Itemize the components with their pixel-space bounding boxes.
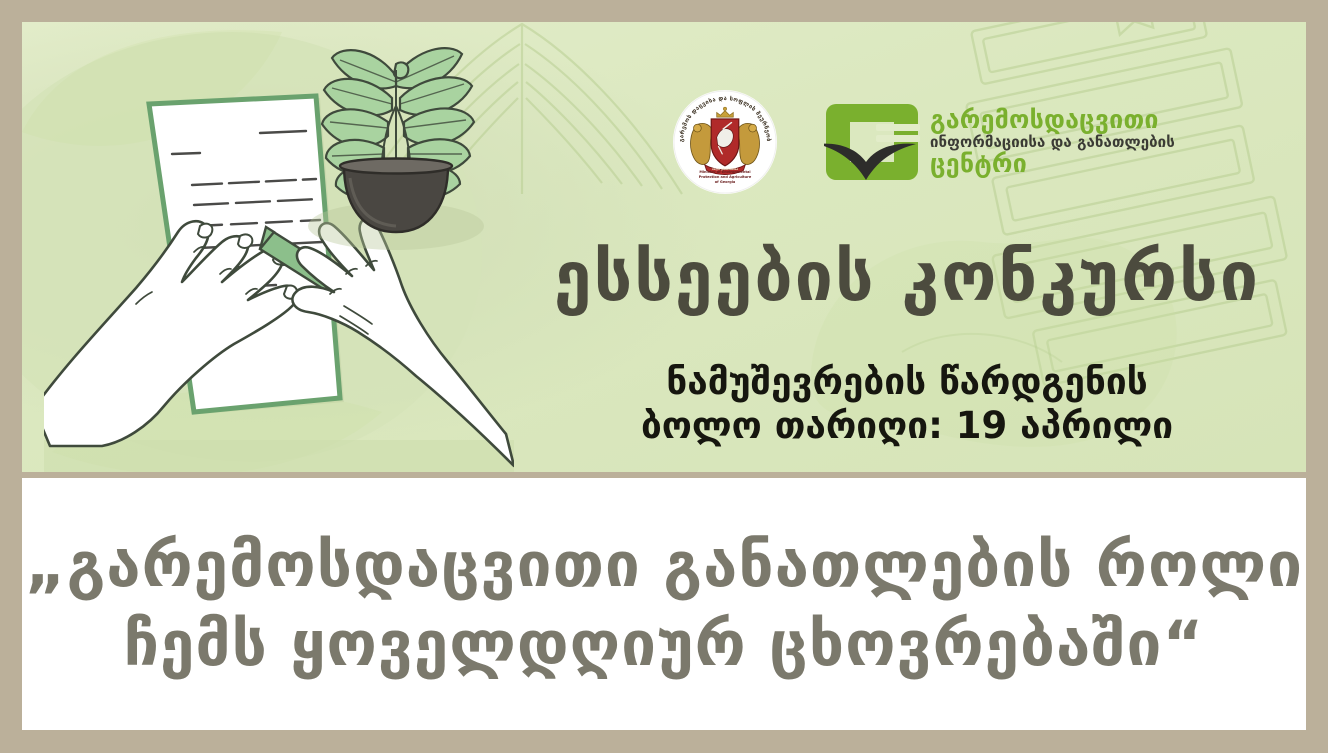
essay-topic-band: „გარემოსდაცვითი განათლების როლი ჩემს ყოვ…	[22, 478, 1306, 730]
center-logo: გარემოსდაცვითი ინფორმაციისა და განათლები…	[824, 96, 1175, 188]
svg-text:Protection and Agriculture: Protection and Agriculture	[699, 175, 752, 179]
potted-plant	[308, 48, 484, 250]
center-logo-line3: ცენტრი	[930, 151, 1175, 177]
hero-panel: საქართველოს გარემოს დაცვისა და სოფლის მე…	[22, 22, 1306, 472]
poster-root: საქართველოს გარემოს დაცვისა და სოფლის მე…	[0, 0, 1328, 753]
essay-topic-line1: „გარემოსდაცვითი განათლების როლი	[25, 525, 1303, 604]
submission-deadline: ნამუშევრების წარდგენის ბოლო თარიღი: 19 ა…	[522, 360, 1292, 447]
deadline-line2: ბოლო თარიღი: 19 აპრილი	[522, 404, 1292, 448]
deadline-line1: ნამუშევრების წარდგენის	[522, 360, 1292, 404]
center-logo-book-icon	[824, 96, 920, 188]
svg-text:of Georgia: of Georgia	[715, 180, 736, 184]
center-logo-line1: გარემოსდაცვითი	[930, 107, 1175, 133]
center-logo-text: გარემოსდაცვითი ინფორმაციისა და განათლები…	[930, 107, 1175, 176]
page-title: ესსეების კონკურსი	[522, 244, 1292, 312]
illustration-hands-writing	[44, 36, 514, 472]
ministry-emblem-icon: საქართველოს გარემოს დაცვისა და სოფლის მე…	[672, 89, 778, 195]
center-logo-line2: ინფორმაციისა და განათლების	[930, 135, 1175, 150]
essay-topic-line2: ჩემს ყოველდღიურ ცხოვრებაში“	[124, 604, 1204, 683]
logo-row: საქართველოს გარემოს დაცვისა და სოფლის მე…	[672, 82, 1192, 202]
svg-text:Ministry of Environmental: Ministry of Environmental	[699, 170, 750, 174]
